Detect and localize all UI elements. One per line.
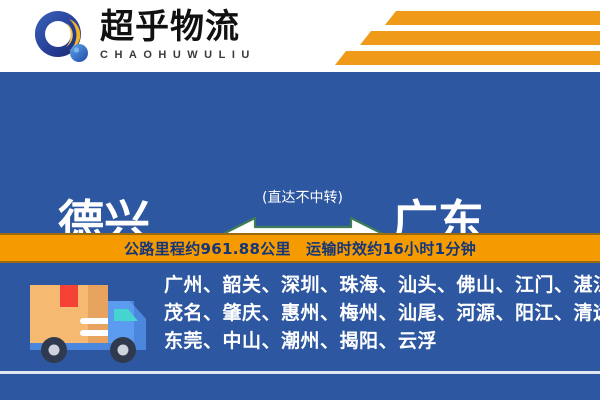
city-line: 茂名、肇庆、惠州、梅州、汕尾、河源、阳江、清远、 — [164, 299, 584, 327]
circle-q-logo-icon — [33, 9, 93, 65]
distance-duration-text: 公路里程约961.88公里 运输时效约16小时1分钟 — [124, 238, 476, 259]
city-line: 东莞、中山、潮州、揭阳、云浮 — [164, 327, 584, 355]
brand-name-en: CHAOHUWULIU — [100, 48, 256, 62]
speed-stripes-decoration-icon — [335, 6, 600, 66]
stripe-3 — [335, 51, 600, 65]
brand-text-block: 超乎物流 CHAOHUWULIU — [100, 8, 256, 62]
logistics-route-banner: 超乎物流 CHAOHUWULIU 德兴 (直达不中转) 【往返运输】 广东 公路… — [0, 0, 600, 400]
brand-name-cn: 超乎物流 — [100, 8, 256, 46]
coverage-city-list: 广州、韶关、深圳、珠海、汕头、佛山、江门、湛江、 茂名、肇庆、惠州、梅州、汕尾、… — [164, 271, 584, 355]
delivery-truck-illustration-icon — [22, 277, 152, 374]
banner-header: 超乎物流 CHAOHUWULIU — [0, 0, 600, 72]
stripe-2 — [360, 31, 600, 45]
direct-shipping-note: (直达不中转) — [215, 187, 390, 207]
distance-duration-bar: 公路里程约961.88公里 运输时效约16小时1分钟 — [0, 233, 600, 263]
bottom-divider — [0, 371, 600, 374]
route-section: 德兴 (直达不中转) 【往返运输】 广东 — [0, 72, 600, 233]
city-line: 广州、韶关、深圳、珠海、汕头、佛山、江门、湛江、 — [164, 271, 584, 299]
coverage-section: 广州、韶关、深圳、珠海、汕头、佛山、江门、湛江、 茂名、肇庆、惠州、梅州、汕尾、… — [0, 263, 600, 400]
stripe-1 — [385, 11, 600, 25]
